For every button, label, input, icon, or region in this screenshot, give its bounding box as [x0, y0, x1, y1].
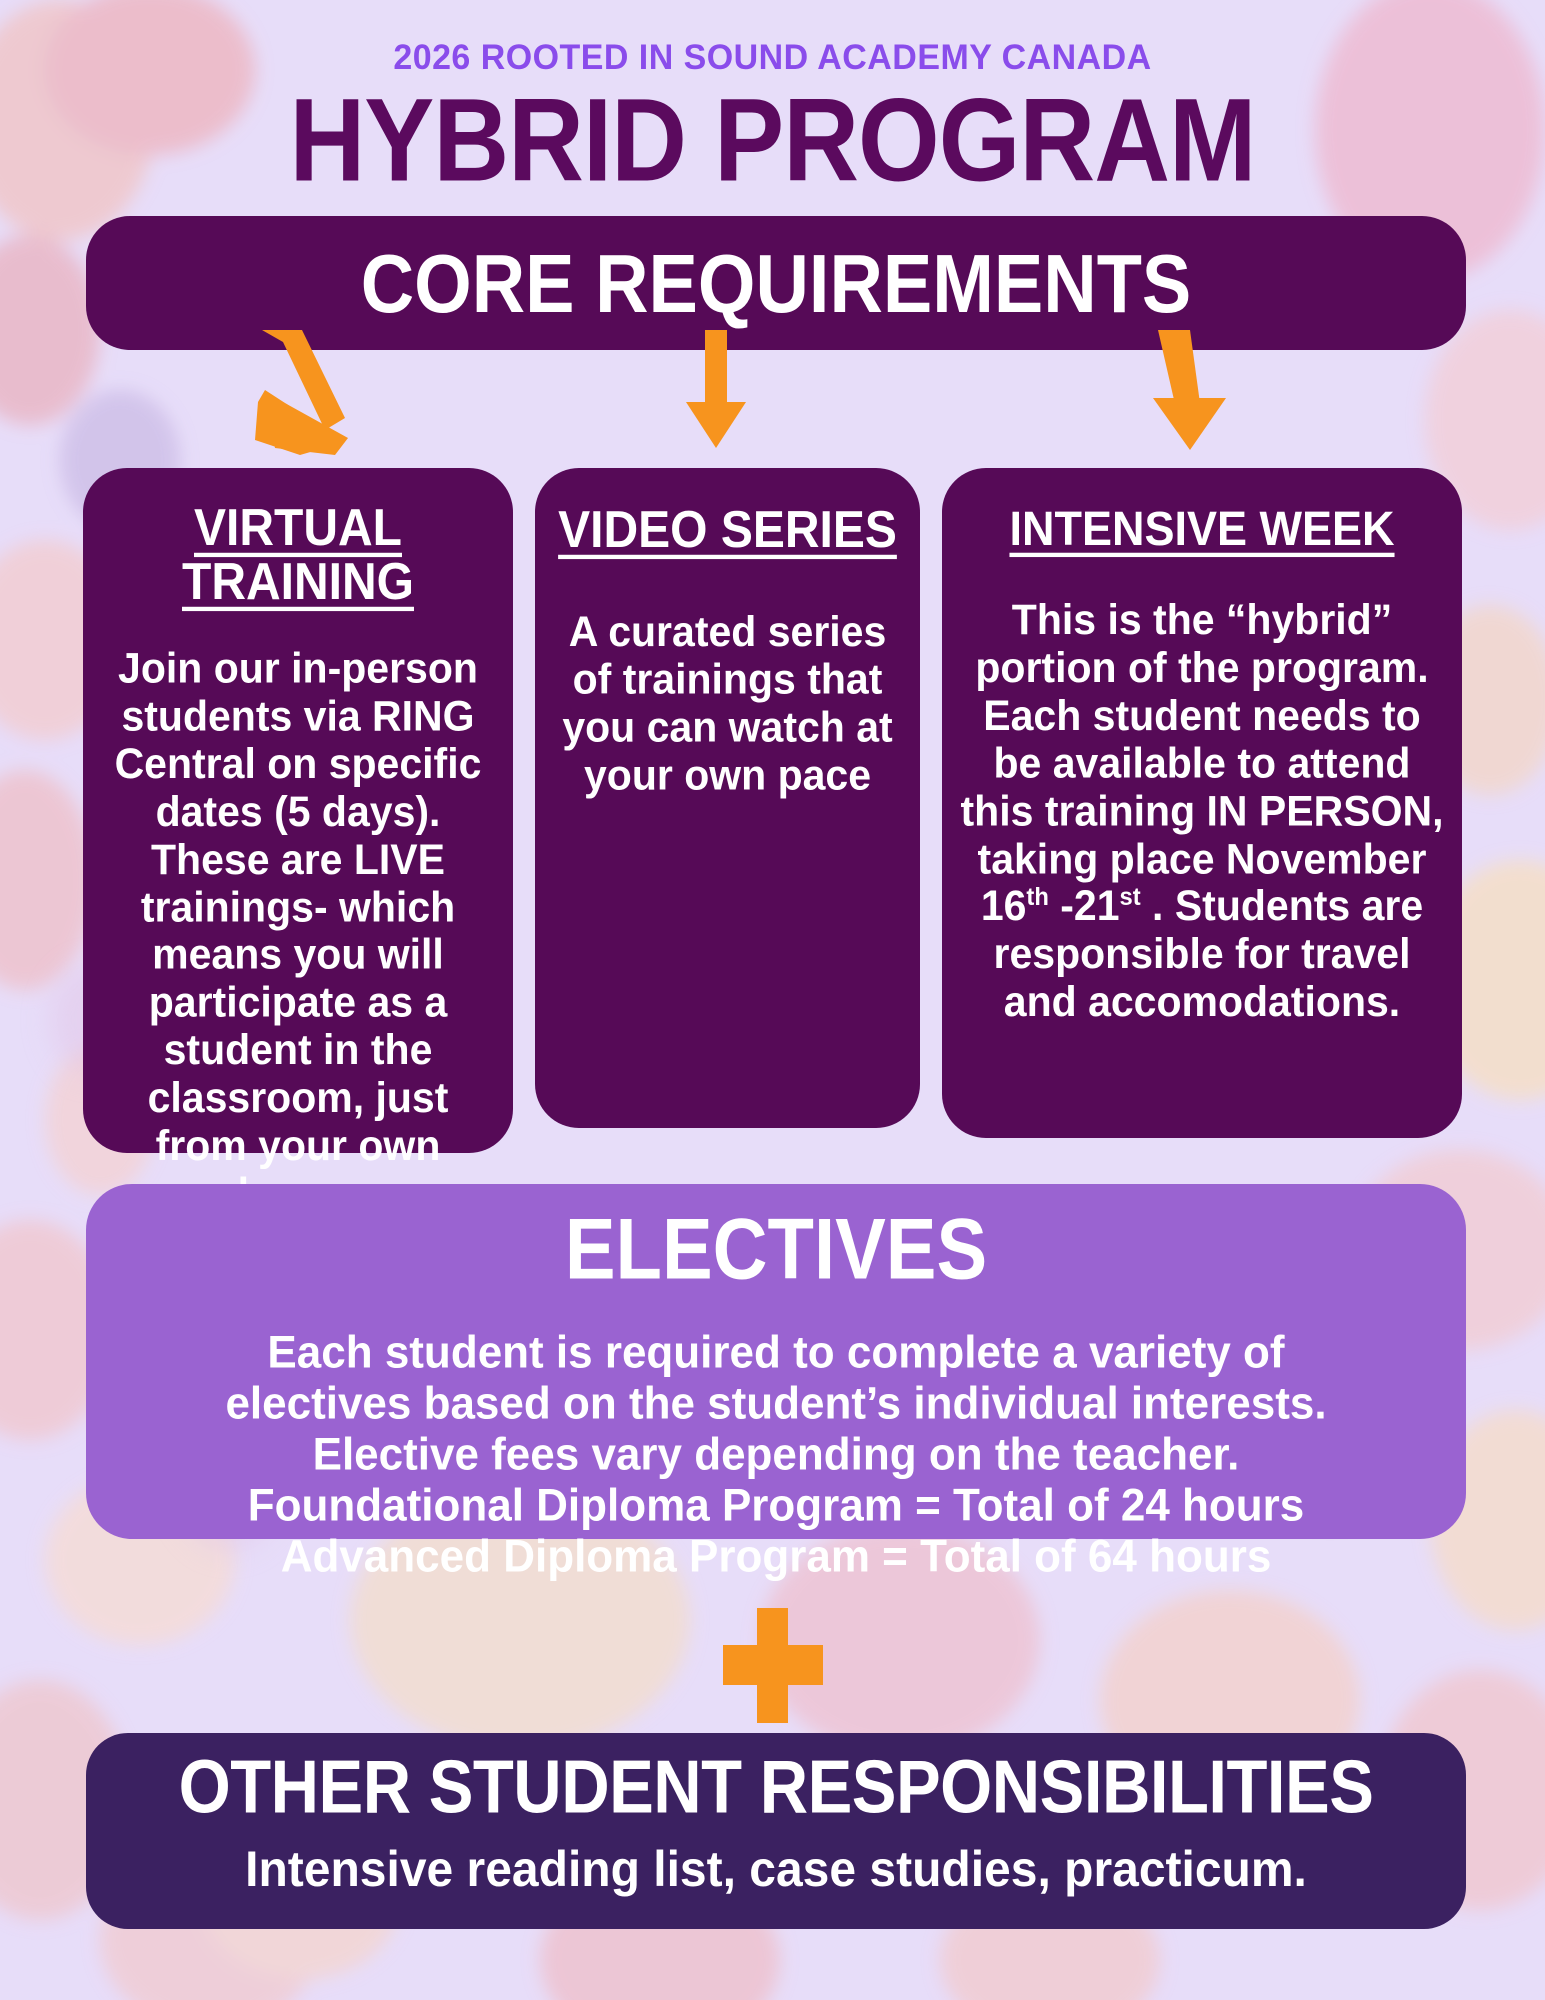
- card-virtual-training[interactable]: VIRTUAL TRAINING Join our in-person stud…: [83, 468, 513, 1153]
- eyebrow-subtitle: 2026 ROOTED IN SOUND ACADEMY CANADA: [23, 0, 1522, 78]
- card-body-video-series: A curated series of trainings that you c…: [553, 608, 902, 799]
- card-body-virtual-training: Join our in-person students via RING Cen…: [101, 645, 495, 1218]
- core-requirement-cards: VIRTUAL TRAINING Join our in-person stud…: [0, 468, 1545, 1153]
- page-title: HYBRID PROGRAM: [0, 84, 1545, 199]
- intensive-ordinal-st: st: [1120, 883, 1141, 911]
- other-responsibilities-subtext: Intensive reading list, case studies, pr…: [86, 1841, 1466, 1899]
- electives-line-2: electives based on the student’s individ…: [86, 1377, 1466, 1430]
- arrow-down-middle-icon: [686, 330, 746, 448]
- plus-connector: [0, 1608, 1545, 1728]
- card-video-series[interactable]: VIDEO SERIES A curated series of trainin…: [535, 468, 920, 1128]
- arrow-group: [0, 330, 1545, 460]
- other-responsibilities-section: OTHER STUDENT RESPONSIBILITIES Intensive…: [86, 1733, 1466, 1929]
- electives-section: ELECTIVES Each student is required to co…: [86, 1184, 1466, 1539]
- card-title-virtual-training: VIRTUAL TRAINING: [101, 502, 495, 610]
- intensive-ordinal-th: th: [1026, 883, 1048, 911]
- electives-line-3: Elective fees vary depending on the teac…: [86, 1428, 1466, 1481]
- other-responsibilities-heading: OTHER STUDENT RESPONSIBILITIES: [86, 1744, 1466, 1830]
- electives-heading: ELECTIVES: [86, 1200, 1466, 1299]
- card-intensive-week[interactable]: INTENSIVE WEEK This is the “hybrid” port…: [942, 468, 1462, 1138]
- arrow-down-right-icon: [1153, 330, 1226, 450]
- core-requirements-label: CORE REQUIREMENTS: [361, 235, 1192, 330]
- electives-line-4: Foundational Diploma Program = Total of …: [86, 1479, 1466, 1532]
- electives-line-5: Advanced Diploma Program = Total of 64 h…: [86, 1530, 1466, 1583]
- electives-line-1: Each student is required to complete a v…: [86, 1326, 1466, 1379]
- card-body-intensive-week: This is the “hybrid” portion of the prog…: [960, 597, 1444, 1027]
- card-title-intensive-week: INTENSIVE WEEK: [960, 504, 1444, 555]
- plus-icon: [723, 1608, 823, 1723]
- arrow-down-left-icon: [255, 330, 348, 455]
- intensive-body-part-2: -21: [1049, 882, 1120, 930]
- intensive-body-part-1: This is the “hybrid” portion of the prog…: [961, 595, 1444, 929]
- card-title-video-series: VIDEO SERIES: [553, 504, 902, 558]
